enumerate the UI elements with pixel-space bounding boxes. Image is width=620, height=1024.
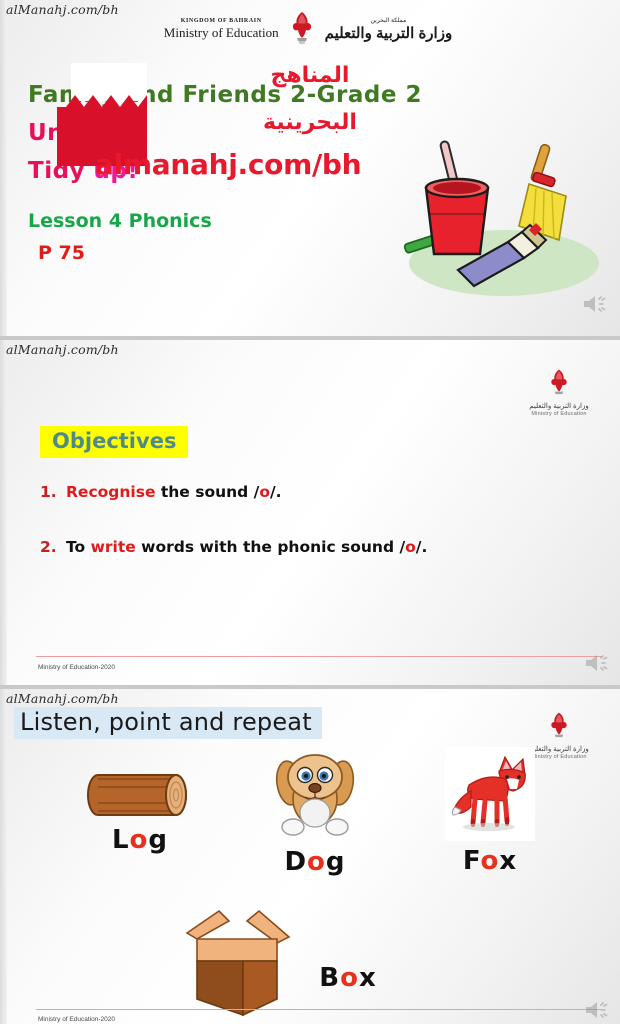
objective-keyword: write — [91, 538, 136, 556]
fox-image-frame — [445, 747, 535, 841]
objectives-heading: Objectives — [40, 426, 188, 458]
objective-end: /. — [270, 483, 282, 501]
objective-item-2: 2.To write words with the phonic sound /… — [40, 538, 427, 556]
objective-number: 1. — [40, 483, 66, 501]
word-prefix: L — [112, 825, 130, 855]
bahrain-emblem-icon — [546, 368, 572, 400]
overlay-arabic-line1: المناهج — [210, 63, 410, 88]
word-prefix: B — [319, 963, 340, 993]
word-suffix: x — [499, 846, 517, 876]
word-card-box[interactable]: Box — [130, 899, 420, 1017]
ministry-header-arabic: مملكة البحرين وزارة التربية والتعليم — [325, 17, 453, 42]
kingdom-label-ar: مملكة البحرين — [325, 17, 453, 24]
ministry-header-english: KINGDOM OF BAHRAIN Ministry of Education — [164, 18, 279, 41]
ministry-label-en: Ministry of Education — [516, 411, 602, 417]
objective-post: the sound / — [155, 483, 259, 501]
word-prefix: D — [284, 847, 307, 877]
almanahj-watermark: alManahj.com/bh — [6, 2, 119, 17]
footer-divider — [36, 1009, 602, 1010]
footer-divider — [36, 656, 602, 657]
slides-page: alManahj.com/bh KINGDOM OF BAHRAIN Minis… — [0, 0, 620, 1024]
red-fox-icon — [447, 749, 533, 835]
footer-text: Ministry of Education-2020 — [38, 1016, 115, 1023]
speaker-icon[interactable] — [584, 651, 610, 675]
wooden-log-icon — [80, 769, 200, 821]
lesson-label: Lesson 4 Phonics — [28, 210, 212, 232]
slide-objectives[interactable]: alManahj.com/bh وزارة التربية والتعليم M… — [0, 340, 620, 685]
ministry-logo: وزارة التربية والتعليم Ministry of Educa… — [516, 368, 602, 417]
overlay-url: almanahj.com/bh — [95, 148, 361, 181]
slide-listen-point-repeat[interactable]: alManahj.com/bh وزارة التربية والتعليم M… — [0, 689, 620, 1024]
page-number-label: P 75 — [38, 242, 85, 264]
slide-heading: Listen, point and repeat — [14, 707, 322, 739]
word-label-dog: Dog — [240, 847, 390, 877]
word-vowel: o — [307, 847, 326, 877]
objective-keyword: Recognise — [66, 483, 155, 501]
word-label-log: Log — [50, 825, 230, 855]
objective-end: /. — [416, 538, 428, 556]
speaker-icon[interactable] — [582, 292, 608, 316]
bahrain-emblem-icon — [546, 711, 572, 743]
overlay-arabic-line2: البحرينية — [210, 110, 410, 135]
objective-phoneme: o — [405, 538, 416, 556]
ministry-label-ar: وزارة التربية والتعليم — [516, 402, 602, 410]
bahrain-emblem-icon — [287, 10, 317, 48]
kingdom-label: KINGDOM OF BAHRAIN — [164, 18, 279, 24]
word-suffix: g — [326, 847, 346, 877]
slide-heading-text: Listen, point and repeat — [20, 708, 312, 736]
objective-item-1: 1.Recognise the sound /o/. — [40, 483, 282, 501]
cardboard-box-icon — [173, 899, 313, 1017]
word-suffix: g — [148, 825, 168, 855]
objective-number: 2. — [40, 538, 66, 556]
cleaning-supplies-illustration — [396, 130, 606, 305]
word-suffix: x — [359, 963, 377, 993]
word-prefix: F — [463, 846, 481, 876]
objectives-heading-text: Objectives — [52, 429, 176, 453]
footer-text: Ministry of Education-2020 — [38, 664, 115, 671]
word-label-box: Box — [319, 963, 376, 993]
ministry-label-ar: وزارة التربية والتعليم — [325, 24, 453, 42]
word-vowel: o — [481, 846, 500, 876]
word-label-fox: Fox — [415, 846, 565, 876]
objective-pre: To — [66, 538, 91, 556]
slide-title[interactable]: alManahj.com/bh KINGDOM OF BAHRAIN Minis… — [0, 0, 620, 336]
objective-phoneme: o — [259, 483, 270, 501]
word-card-log[interactable]: Log — [50, 769, 230, 855]
word-vowel: o — [130, 825, 149, 855]
almanahj-watermark: alManahj.com/bh — [6, 342, 119, 357]
word-vowel: o — [340, 963, 359, 993]
ministry-label-en: Ministry of Education — [164, 25, 279, 41]
almanahj-watermark: alManahj.com/bh — [6, 691, 119, 706]
objective-post: words with the phonic sound / — [136, 538, 405, 556]
speaker-icon[interactable] — [584, 998, 610, 1022]
word-card-fox[interactable]: Fox — [415, 747, 565, 876]
word-card-dog[interactable]: Dog — [240, 747, 390, 877]
puppy-dog-icon — [267, 747, 363, 843]
ministry-header: KINGDOM OF BAHRAIN Ministry of Education… — [118, 4, 498, 54]
